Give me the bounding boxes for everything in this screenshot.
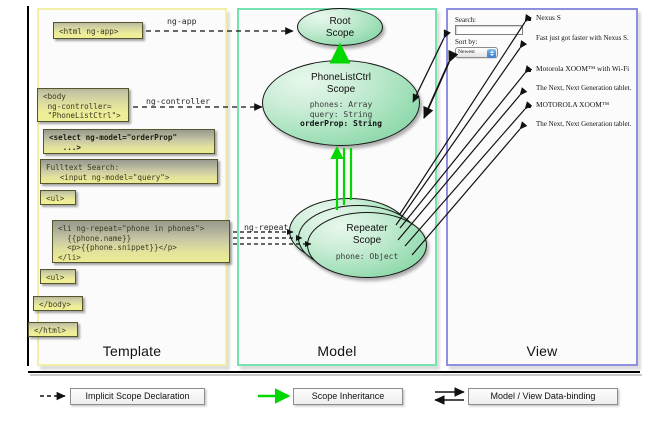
view-panel: [446, 8, 638, 366]
view-sort-label: Sort by:: [455, 38, 477, 46]
root-scope-title-line1: Root: [298, 16, 382, 28]
view-sort-select-value: Newest: [458, 49, 475, 55]
edge-label-ng-app: ng-app: [167, 16, 197, 26]
outer-frame-left-edge: [27, 6, 29, 366]
chevron-updown-icon: [487, 49, 496, 58]
phonelistctrl-prop-phones: phones: Array: [263, 100, 419, 110]
view-phone-name[interactable]: Nexus S: [536, 13, 561, 22]
model-scope-root: Root Scope: [297, 8, 383, 46]
legend-divider-shadow: [30, 374, 642, 376]
view-phone-snippet: The Next, Next Generation tablet.: [536, 84, 631, 92]
template-box-ul-close-tag: <ul>: [40, 269, 76, 284]
phonelistctrl-prop-query: query: String: [263, 110, 419, 120]
repeater-scope-title-line2: Scope: [308, 235, 426, 247]
template-box-fulltext-search: Fulltext Search: <input ng-model="query"…: [40, 159, 218, 184]
root-scope-title-line2: Scope: [298, 28, 382, 40]
column-label-model: Model: [237, 343, 437, 359]
view-search-input[interactable]: [455, 25, 523, 35]
view-phone-snippet: Fast just got faster with Nexus S.: [536, 34, 629, 42]
phonelistctrl-prop-orderprop: orderProp: String: [263, 119, 419, 129]
column-label-view: View: [446, 343, 638, 359]
repeater-prop-phone: phone: Object: [308, 252, 426, 262]
legend-divider: [28, 371, 640, 373]
edge-label-ng-controller: ng-controller: [146, 96, 210, 106]
model-scope-phonelistctrl: PhoneListCtrl Scope phones: Array query:…: [262, 60, 420, 146]
legend-scope-inheritance: Scope Inheritance: [293, 388, 403, 405]
template-box-html-tag: <html ng-app>: [53, 22, 143, 39]
view-phone-bullet: [528, 105, 531, 108]
edge-label-ng-repeat: ng-repeat: [244, 222, 288, 232]
legend-implicit-scope-declaration: Implicit Scope Declaration: [70, 388, 205, 405]
view-phone-name[interactable]: Motorola XOOM™ with Wi-Fi: [536, 64, 629, 73]
column-label-template: Template: [37, 343, 227, 359]
view-search-label: Search:: [455, 16, 476, 24]
model-scope-repeater: Repeater Scope phone: Object: [307, 212, 427, 278]
template-box-body-tag: <body ng-controller= "PhoneListCtrl">: [37, 88, 129, 122]
template-box-body-close-tag: </body>: [33, 296, 83, 311]
view-sort-select[interactable]: Newest: [455, 47, 498, 58]
template-box-select-tag: <select ng-model="orderProp" ...>: [43, 129, 215, 154]
diagram-canvas: Template Model View <html ng-app> <body …: [0, 0, 661, 425]
template-box-li-repeat-tag: <li ng-repeat="phone in phones"> {{phone…: [52, 220, 230, 263]
view-phone-name[interactable]: MOTOROLA XOOM™: [536, 100, 609, 109]
phonelistctrl-scope-title-line2: Scope: [263, 84, 419, 96]
view-phone-snippet: The Next, Next Generation tablet.: [536, 120, 631, 128]
template-panel: [37, 8, 227, 366]
legend-model-view-data-binding: Model / View Data-binding: [468, 388, 618, 405]
template-box-html-close-tag: </html>: [28, 322, 78, 337]
phonelistctrl-scope-title-line1: PhoneListCtrl: [263, 72, 419, 84]
view-phone-bullet: [528, 69, 531, 72]
repeater-scope-title-line1: Repeater: [308, 223, 426, 235]
template-box-ul-open-tag: <ul>: [40, 190, 76, 205]
view-phone-bullet: [528, 18, 531, 21]
